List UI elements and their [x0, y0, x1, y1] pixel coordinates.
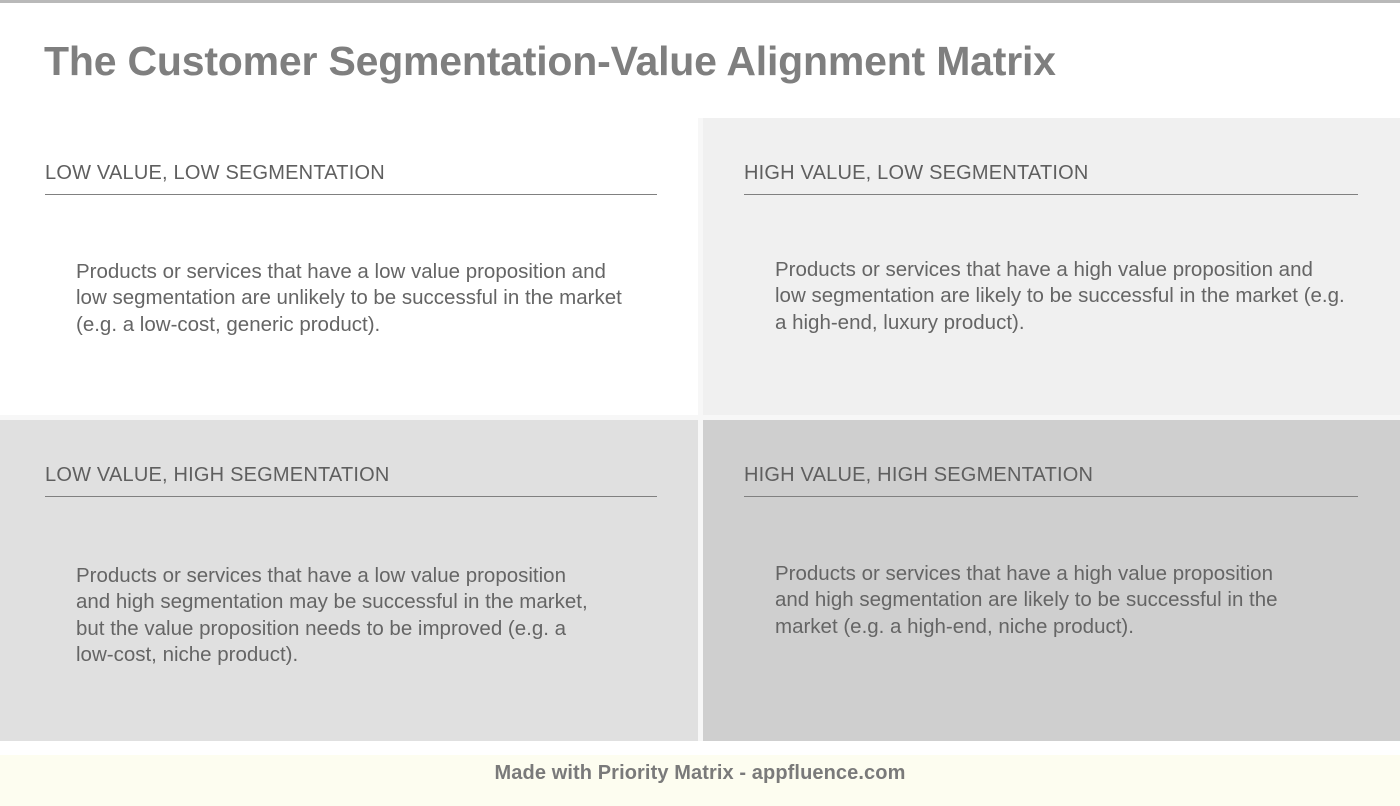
quadrant-body-text: Products or services that have a low val…: [76, 259, 636, 338]
quadrant-header-rule: [45, 194, 657, 195]
quadrant-body-text: Products or services that have a high va…: [775, 561, 1300, 640]
page-title: The Customer Segmentation-Value Alignmen…: [0, 39, 1056, 84]
quadrant-header: LOW VALUE, HIGH SEGMENTATION: [45, 463, 657, 487]
page-footer: Made with Priority Matrix - appfluence.c…: [0, 755, 1400, 806]
footer-spacer: [0, 741, 1400, 755]
quadrant-low-value-low-segmentation[interactable]: LOW VALUE, LOW SEGMENTATION Products or …: [0, 118, 698, 415]
quadrant-high-value-high-segmentation[interactable]: HIGH VALUE, HIGH SEGMENTATION Products o…: [703, 420, 1400, 741]
quadrant-header: HIGH VALUE, LOW SEGMENTATION: [744, 161, 1358, 185]
matrix-page: The Customer Segmentation-Value Alignmen…: [0, 0, 1400, 803]
quadrant-header-rule: [744, 496, 1358, 497]
quadrant-body-text: Products or services that have a high va…: [775, 257, 1345, 336]
quadrant-body-text: Products or services that have a low val…: [76, 563, 601, 669]
quadrant-header-rule: [45, 496, 657, 497]
quadrant-high-value-low-segmentation[interactable]: HIGH VALUE, LOW SEGMENTATION Products or…: [703, 118, 1400, 415]
footer-attribution[interactable]: Made with Priority Matrix - appfluence.c…: [495, 755, 906, 785]
page-header: The Customer Segmentation-Value Alignmen…: [0, 6, 1400, 118]
quadrant-header-rule: [744, 194, 1358, 195]
quadrant-matrix: LOW VALUE, LOW SEGMENTATION Products or …: [0, 118, 1400, 741]
quadrant-header: HIGH VALUE, HIGH SEGMENTATION: [744, 463, 1358, 487]
quadrant-header: LOW VALUE, LOW SEGMENTATION: [45, 161, 657, 185]
quadrant-low-value-high-segmentation[interactable]: LOW VALUE, HIGH SEGMENTATION Products or…: [0, 420, 698, 741]
